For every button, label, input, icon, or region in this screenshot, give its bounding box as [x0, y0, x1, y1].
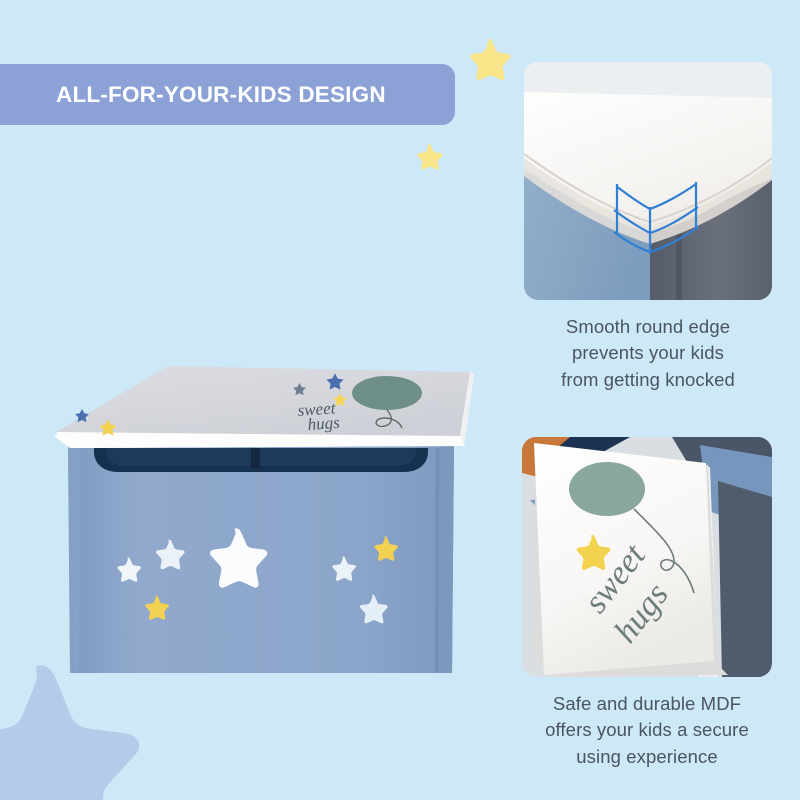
balloon-icon	[569, 462, 645, 516]
headline-title: ALL-FOR-YOUR-KIDS DESIGN	[56, 82, 386, 108]
feature-caption-safe-durable-mdf: Safe and durable MDF offers your kids a …	[522, 691, 772, 770]
feature-photo-rounded-corner	[524, 62, 772, 300]
product-photo-toy-box: sweet hugs	[46, 360, 476, 680]
caption-line: prevents your kids	[524, 340, 772, 366]
infographic-page: ALL-FOR-YOUR-KIDS DESIGN	[0, 0, 800, 800]
caption-line: Smooth round edge	[524, 314, 772, 340]
mid-yellow-star-small-icon	[414, 142, 444, 172]
caption-line: offers your kids a secure	[522, 717, 772, 743]
caption-line: Safe and durable MDF	[522, 691, 772, 717]
feature-card-safe-durable-mdf: sweet hugs Safe and durable MDF offers y…	[522, 437, 772, 770]
feature-caption-smooth-round-edge: Smooth round edge prevents your kids fro…	[524, 314, 772, 393]
lid-script-hugs: hugs	[307, 413, 341, 434]
toy-box-handle-cutout	[94, 446, 428, 472]
feature-card-smooth-round-edge: Smooth round edge prevents your kids fro…	[524, 62, 772, 393]
feature-photo-lid-closeup: sweet hugs	[522, 437, 772, 677]
caption-line: using experience	[522, 744, 772, 770]
caption-line: from getting knocked	[524, 367, 772, 393]
balloon-icon	[352, 376, 422, 410]
top-yellow-star-large-icon	[465, 36, 513, 84]
toy-box-lid	[54, 366, 474, 448]
headline-banner: ALL-FOR-YOUR-KIDS DESIGN	[0, 64, 455, 125]
